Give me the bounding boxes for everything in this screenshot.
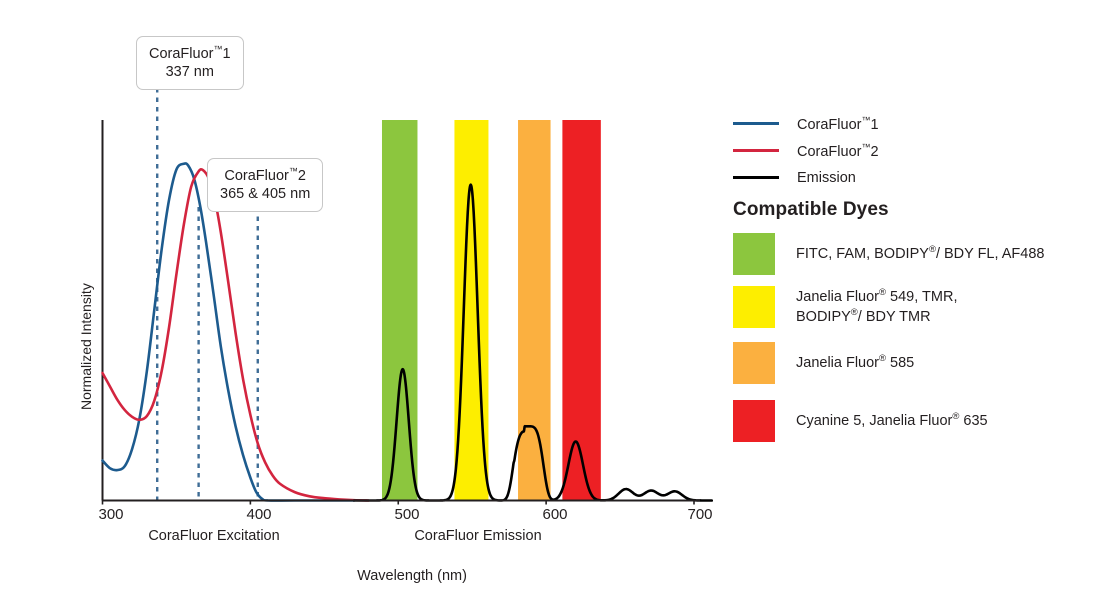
x-axis-title: Wavelength (nm): [357, 568, 467, 584]
dye-item-green: FITC, FAM, BODIPY®/ BDY FL, AF488: [733, 233, 1108, 275]
x-tick-700: 700: [687, 506, 712, 523]
legend-label-emission: Emission: [797, 170, 856, 186]
dye-item-red: Cyanine 5, Janelia Fluor® 635: [733, 400, 1108, 442]
compatible-dyes-heading: Compatible Dyes: [733, 199, 889, 221]
legend-line-swatch-corafluor2: [733, 149, 779, 151]
compatible-dyes-list: FITC, FAM, BODIPY®/ BDY FL, AF488 Janeli…: [733, 233, 1108, 453]
callout-corafluor1-line1: CoraFluor™1: [149, 44, 231, 63]
y-axis-title: Normalized Intensity: [78, 283, 94, 410]
dye-swatch-orange: [733, 342, 775, 384]
curve-corafluor1-excitation: [103, 163, 354, 500]
dye-swatch-red: [733, 400, 775, 442]
emission-band-green: [382, 120, 417, 501]
callout-corafluor2-line2: 365 & 405 nm: [220, 185, 310, 203]
dye-item-yellow: Janelia Fluor® 549, TMR,BODIPY®/ BDY TMR: [733, 286, 1108, 328]
legend-item-corafluor2: CoraFluor™2: [733, 137, 1103, 164]
dye-item-orange: Janelia Fluor® 585: [733, 342, 1108, 384]
curve-corafluor2-excitation: [103, 169, 369, 500]
legend-label-corafluor2: CoraFluor™2: [797, 142, 879, 160]
series-legend: CoraFluor™1 CoraFluor™2 Emission: [733, 110, 1103, 191]
dye-label-green: FITC, FAM, BODIPY®/ BDY FL, AF488: [796, 244, 1044, 264]
x-tick-300: 300: [98, 506, 123, 523]
chart-plot-area: Normalized Intensity 300 400 500 600 700…: [0, 0, 730, 612]
x-tick-500: 500: [394, 506, 419, 523]
x-tick-400: 400: [246, 506, 271, 523]
x-tick-600: 600: [542, 506, 567, 523]
dye-swatch-yellow: [733, 286, 775, 328]
callout-corafluor2-line1: CoraFluor™2: [220, 166, 310, 185]
dye-swatch-green: [733, 233, 775, 275]
legend-line-swatch-emission: [733, 176, 779, 178]
callout-corafluor2: CoraFluor™2 365 & 405 nm: [207, 158, 323, 212]
legend-label-corafluor1: CoraFluor™1: [797, 115, 879, 133]
dye-label-red: Cyanine 5, Janelia Fluor® 635: [796, 411, 988, 431]
fluorescence-spectra-figure: Normalized Intensity 300 400 500 600 700…: [0, 0, 1110, 612]
excitation-range-label: CoraFluor Excitation: [148, 528, 279, 544]
emission-band-red: [562, 120, 600, 501]
legend-item-corafluor1: CoraFluor™1: [733, 110, 1103, 137]
callout-corafluor1: CoraFluor™1 337 nm: [136, 36, 244, 90]
emission-band-orange: [518, 120, 551, 501]
legend-line-swatch-corafluor1: [733, 122, 779, 124]
callout-corafluor1-line2: 337 nm: [149, 63, 231, 81]
emission-range-label: CoraFluor Emission: [414, 528, 541, 544]
dye-label-orange: Janelia Fluor® 585: [796, 353, 914, 373]
dye-label-yellow: Janelia Fluor® 549, TMR,BODIPY®/ BDY TMR: [796, 287, 957, 327]
legend-item-emission: Emission: [733, 164, 1103, 191]
